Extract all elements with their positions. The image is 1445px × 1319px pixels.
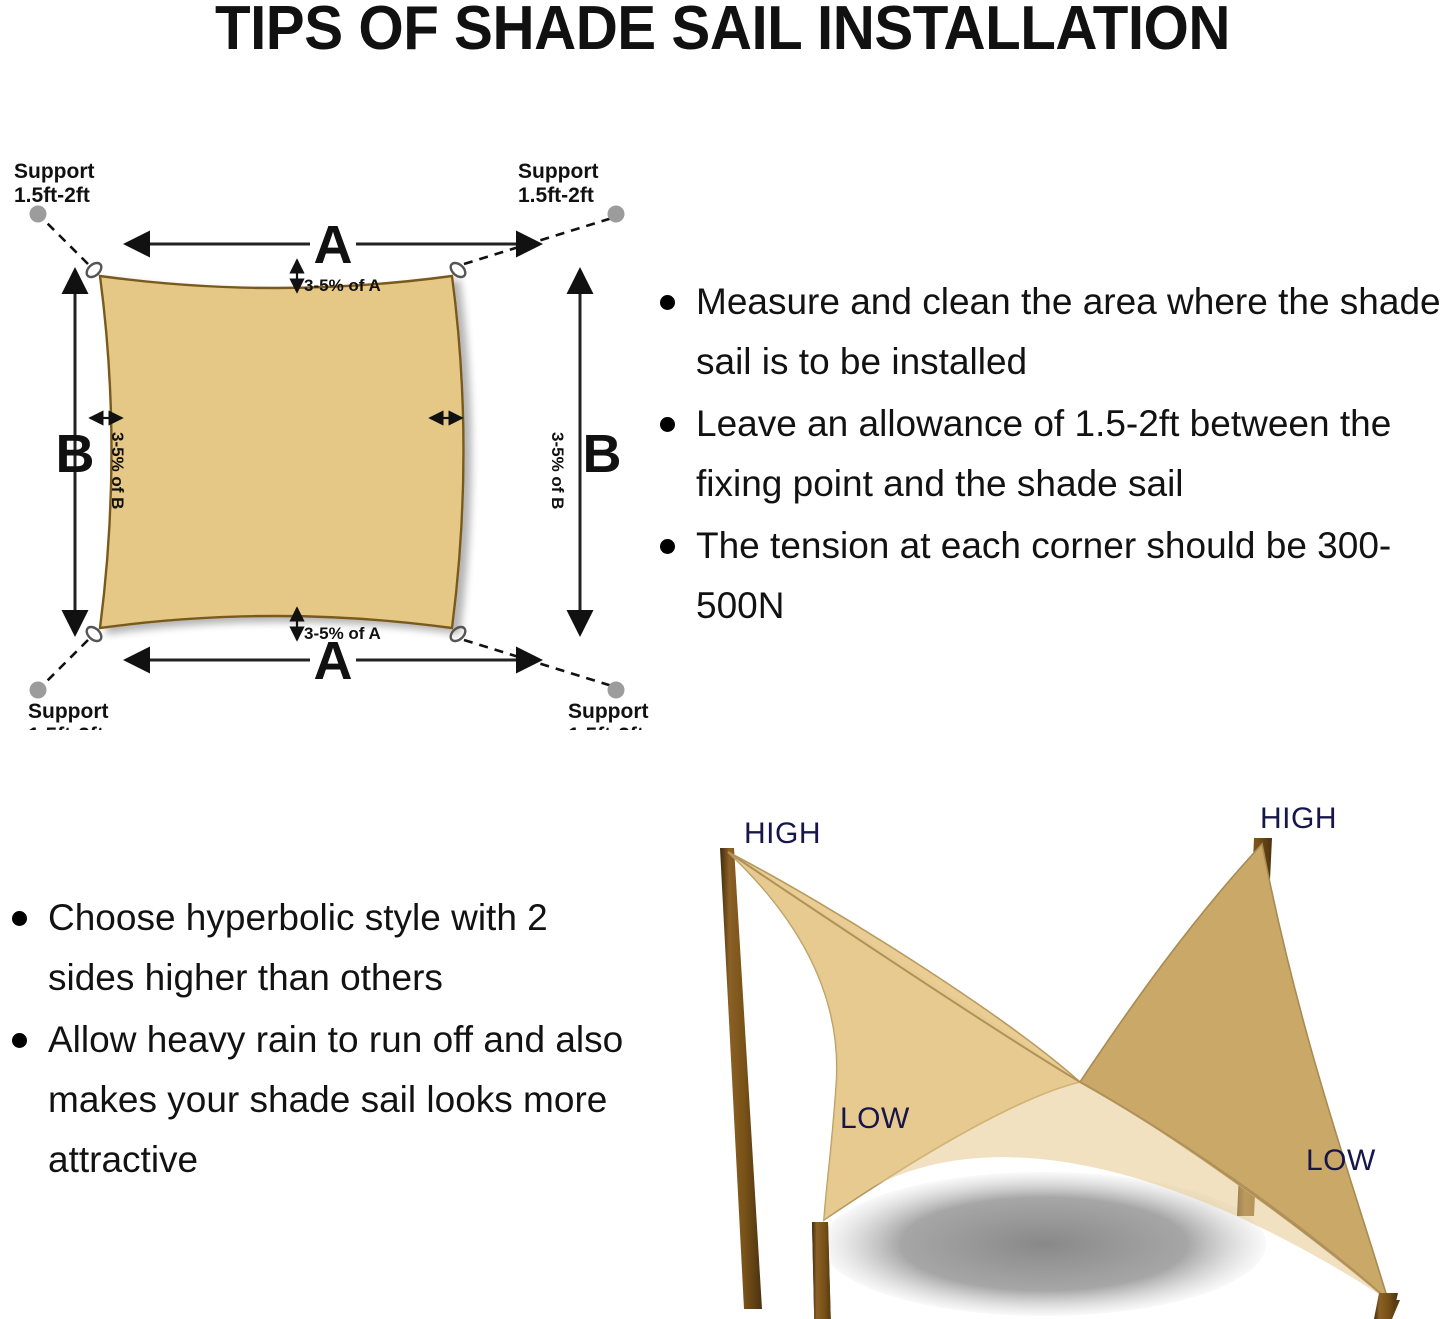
support-label-bottom-right-line1: Support xyxy=(568,700,648,723)
tolerance-label-left: 3-5% of B xyxy=(108,432,127,509)
bullet-dot-icon xyxy=(660,539,675,554)
list-item: Choose hyperbolic style with 2 sides hig… xyxy=(0,888,625,1008)
support-line xyxy=(42,218,88,264)
tolerance-left: 3-5% of B xyxy=(90,418,127,509)
dimension-b-right: B xyxy=(580,270,622,634)
rectangular-sail-diagram: Support 1.5ft-2ft Support 1.5ft-2ft Supp… xyxy=(0,160,660,730)
infographic-page: TIPS OF SHADE SAIL INSTALLATION xyxy=(0,0,1445,1319)
support-dot xyxy=(608,206,625,223)
support-label-bottom-left-line1: Support xyxy=(28,700,108,723)
sail-shape-group xyxy=(100,276,464,628)
support-line xyxy=(42,640,88,686)
dimension-label-a-top: A xyxy=(314,215,353,275)
post-left-high xyxy=(720,848,762,1309)
support-label-top-left-line2: 1.5ft-2ft xyxy=(14,184,90,207)
dimension-label-b-right: B xyxy=(583,424,622,484)
sail-body xyxy=(100,276,464,628)
tolerance-label-bottom: 3-5% of A xyxy=(304,624,381,643)
tip-text: The tension at each corner should be 300… xyxy=(696,516,1445,636)
tip-text: Leave an allowance of 1.5-2ft between th… xyxy=(696,394,1445,514)
label-low-left: LOW xyxy=(840,1102,910,1135)
hyperbolic-sail-diagram: HIGH HIGH LOW LOW xyxy=(676,788,1445,1319)
support-dot xyxy=(608,682,625,699)
list-item: Measure and clean the area where the sha… xyxy=(648,272,1445,392)
page-title: TIPS OF SHADE SAIL INSTALLATION xyxy=(43,0,1401,61)
list-item: Leave an allowance of 1.5-2ft between th… xyxy=(648,394,1445,514)
tolerance-label-top: 3-5% of A xyxy=(304,276,381,295)
support-label-top-right-line1: Support xyxy=(518,160,598,183)
label-high-left: HIGH xyxy=(744,817,821,850)
support-dot xyxy=(30,206,47,223)
post-right-low-front xyxy=(1374,1293,1398,1319)
list-item: The tension at each corner should be 300… xyxy=(648,516,1445,636)
tolerance-label-right: 3-5% of B xyxy=(548,432,567,509)
support-dot xyxy=(30,682,47,699)
support-line xyxy=(464,640,612,686)
dimension-b-left: B xyxy=(56,270,95,634)
support-line xyxy=(464,218,612,264)
tip-text: Choose hyperbolic style with 2 sides hig… xyxy=(48,888,625,1008)
support-label-bottom-right-line2: 1.5ft-2ft xyxy=(568,724,644,730)
bullet-dot-icon xyxy=(660,417,675,432)
installation-tips-list: Measure and clean the area where the sha… xyxy=(648,272,1445,638)
dimension-label-b-left: B xyxy=(56,424,95,484)
support-label-top-right-line2: 1.5ft-2ft xyxy=(518,184,594,207)
tip-text: Allow heavy rain to run off and also mak… xyxy=(48,1010,625,1190)
bullet-dot-icon xyxy=(12,1033,27,1048)
label-low-right: LOW xyxy=(1306,1144,1376,1177)
tip-text: Measure and clean the area where the sha… xyxy=(696,272,1445,392)
list-item: Allow heavy rain to run off and also mak… xyxy=(0,1010,625,1190)
label-high-right: HIGH xyxy=(1260,802,1337,835)
support-label-bottom-left-line2: 1.5ft-2ft xyxy=(28,724,104,730)
dimension-a-top: A xyxy=(126,215,540,275)
bullet-dot-icon xyxy=(660,295,675,310)
bullet-dot-icon xyxy=(12,911,27,926)
hyperbolic-style-tips-list: Choose hyperbolic style with 2 sides hig… xyxy=(0,888,625,1192)
support-label-top-left-line1: Support xyxy=(14,160,94,183)
